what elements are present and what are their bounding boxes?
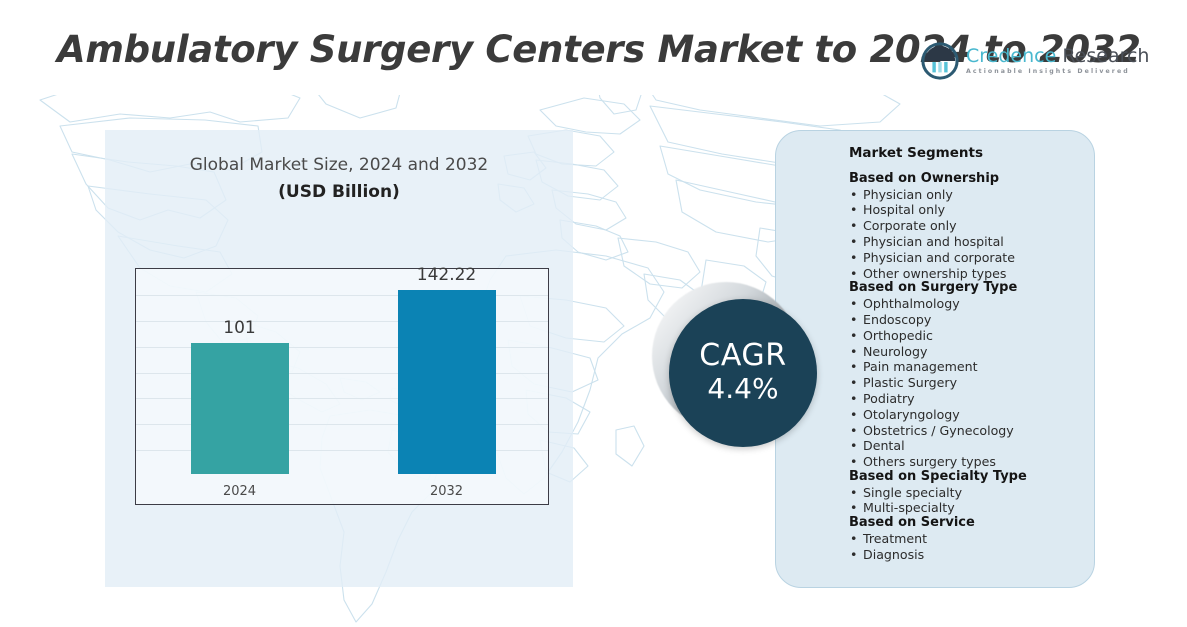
segment-item: Obstetrics / Gynecology [849, 423, 1094, 439]
segment-group-title: Based on Surgery Type [849, 281, 1094, 296]
segment-group-title: Based on Service [849, 516, 1094, 531]
bar-2032 [398, 290, 496, 474]
segment-item: Plastic Surgery [849, 375, 1094, 391]
segment-item: Treatment [849, 531, 1094, 547]
brand-logo: Credence Research Actionable Insights De… [921, 42, 1149, 80]
segment-item: Others surgery types [849, 454, 1094, 470]
segment-group-title: Based on Ownership [849, 172, 1094, 187]
segment-item: Orthopedic [849, 328, 1094, 344]
segment-item: Endoscopy [849, 312, 1094, 328]
segment-item: Diagnosis [849, 547, 1094, 563]
cagr-label: CAGR [699, 340, 786, 372]
segment-group-title: Based on Specialty Type [849, 470, 1094, 485]
cagr-badge: CAGR 4.4% [652, 282, 817, 447]
segment-item: Podiatry [849, 391, 1094, 407]
segment-item: Ophthalmology [849, 296, 1094, 312]
segment-item: Physician and hospital [849, 234, 1094, 250]
segment-item: Otolaryngology [849, 407, 1094, 423]
chart-panel: Global Market Size, 2024 and 2032 (USD B… [105, 130, 573, 587]
segment-item: Corporate only [849, 218, 1094, 234]
segment-item: Physician and corporate [849, 250, 1094, 266]
segment-item: Single specialty [849, 485, 1094, 501]
bar-chart-plot-area: 1012024142.222032 [135, 268, 549, 505]
chart-heading: Global Market Size, 2024 and 2032 [105, 155, 573, 175]
segment-item: Pain management [849, 359, 1094, 375]
segment-item: Physician only [849, 187, 1094, 203]
bar-category-2024: 2024 [170, 484, 310, 499]
logo-name: Credence Research [966, 47, 1149, 67]
bar-category-2032: 2032 [377, 484, 517, 499]
segment-item: Neurology [849, 344, 1094, 360]
segment-item: Multi-specialty [849, 500, 1094, 516]
cagr-circle: CAGR 4.4% [669, 299, 817, 447]
market-segments-panel: Market Segments Based on OwnershipPhysic… [775, 130, 1095, 588]
bar-value-2032: 142.22 [377, 265, 517, 285]
bar-value-2024: 101 [170, 318, 310, 338]
logo-name-part1: Credence [966, 45, 1056, 67]
chart-subheading: (USD Billion) [105, 182, 573, 202]
header: Ambulatory Surgery Centers Market to 202… [0, 0, 1187, 95]
segment-item: Dental [849, 438, 1094, 454]
logo-tagline: Actionable Insights Delivered [966, 68, 1149, 75]
segments-list: Based on OwnershipPhysician onlyHospital… [849, 172, 1094, 562]
cagr-value: 4.4% [707, 371, 778, 406]
segment-item: Hospital only [849, 202, 1094, 218]
segment-item: Other ownership types [849, 266, 1094, 282]
segments-title: Market Segments [849, 145, 1094, 161]
bar-2024 [191, 343, 289, 474]
credence-logo-mark-icon [921, 42, 959, 80]
logo-name-part2: Research [1056, 45, 1149, 67]
